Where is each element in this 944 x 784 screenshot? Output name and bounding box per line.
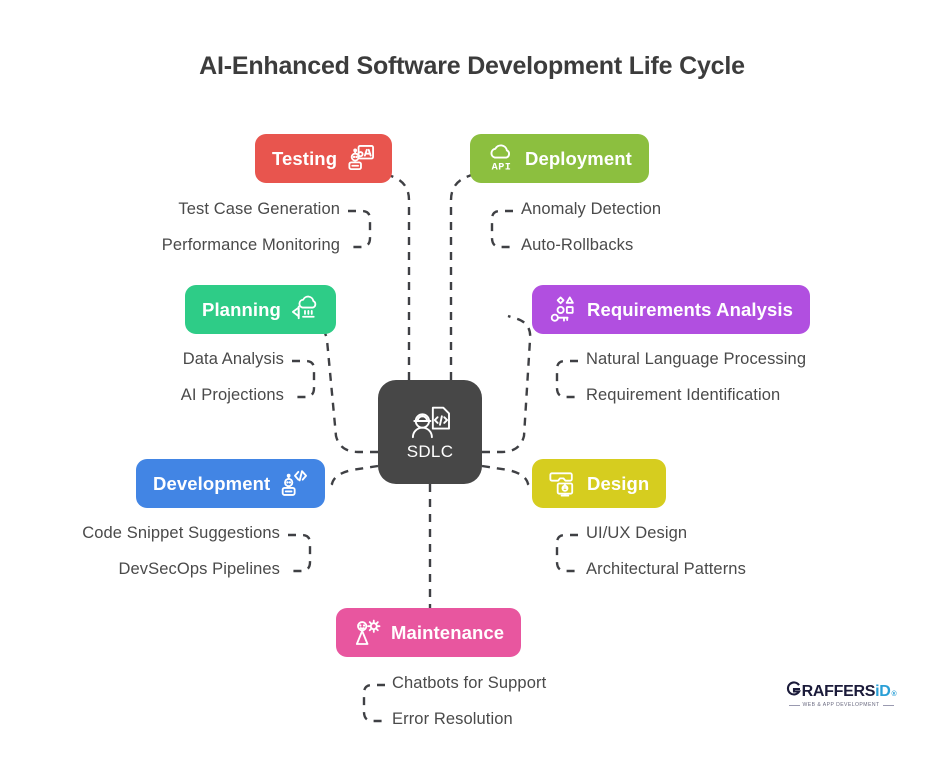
robot-code-icon	[279, 469, 308, 498]
sub-item-error-resolution: Error Resolution	[392, 710, 513, 729]
stage-node-deployment[interactable]: API Deployment	[470, 134, 649, 183]
connector-hub-requirements	[482, 316, 530, 452]
stage-label-development: Development	[153, 473, 270, 495]
connector-hub-deployment	[451, 172, 478, 380]
cloud-api-icon: API	[487, 144, 516, 173]
sub-item-test-case-generation: Test Case Generation	[88, 200, 340, 219]
svg-text:API: API	[492, 163, 512, 173]
logo-brand-main: RAFFERS	[802, 684, 875, 700]
stage-label-testing: Testing	[272, 148, 337, 170]
logo-registered-mark: ®	[892, 691, 897, 698]
stage-label-requirements: Requirements Analysis	[587, 299, 793, 321]
logo-wordmark: RAFFERS iD ®	[786, 681, 897, 700]
sub-item-natural-language-processing: Natural Language Processing	[586, 350, 806, 369]
sub-item-anomaly-detection: Anomaly Detection	[521, 200, 661, 219]
logo-brand-accent: iD	[875, 684, 890, 700]
hub-node-sdlc[interactable]: SDLC	[378, 380, 482, 484]
sub-item-requirement-identification: Requirement Identification	[586, 386, 780, 405]
connector-hub-planning	[292, 315, 378, 452]
stage-node-requirements[interactable]: Requirements Analysis	[532, 285, 810, 334]
vr-headset-monitor-icon	[549, 469, 578, 498]
graffersid-logo: RAFFERS iD ® WEB & APP DEVELOPMENT	[789, 681, 893, 708]
stage-label-design: Design	[587, 473, 649, 495]
page-title: AI-Enhanced Software Development Life Cy…	[0, 52, 944, 81]
hub-label: SDLC	[407, 442, 454, 462]
sub-item-code-snippet-suggestions: Code Snippet Suggestions	[20, 524, 280, 543]
sub-item-data-analysis: Data Analysis	[60, 350, 284, 369]
connector-hub-development	[331, 466, 378, 485]
logo-g-icon	[786, 681, 801, 696]
shapes-key-icon	[549, 295, 578, 324]
sub-item-architectural-patterns: Architectural Patterns	[586, 560, 746, 579]
connector-sub-planning	[292, 361, 314, 397]
sub-item-chatbots-for-support: Chatbots for Support	[392, 674, 546, 693]
stage-node-development[interactable]: Development	[136, 459, 325, 508]
connector-sub-design	[557, 535, 578, 571]
logo-tagline: WEB & APP DEVELOPMENT	[789, 702, 894, 708]
stage-node-maintenance[interactable]: Maintenance	[336, 608, 521, 657]
connector-hub-design	[482, 466, 529, 485]
connector-sub-testing	[348, 211, 370, 247]
connector-sub-deployment	[492, 211, 513, 247]
stage-node-planning[interactable]: Planning	[185, 285, 336, 334]
connector-hub-testing	[360, 166, 409, 380]
stage-label-maintenance: Maintenance	[391, 622, 504, 644]
sub-item-devsecops-pipelines: DevSecOps Pipelines	[20, 560, 280, 579]
robot-screen-icon	[346, 144, 375, 173]
stage-label-planning: Planning	[202, 299, 281, 321]
stage-node-testing[interactable]: Testing	[255, 134, 392, 183]
stage-node-design[interactable]: Design	[532, 459, 666, 508]
developer-code-icon	[409, 402, 451, 440]
person-gear-icon	[353, 618, 382, 647]
diagram-canvas: AI-Enhanced Software Development Life Cy…	[0, 0, 944, 784]
sub-item-auto-rollbacks: Auto-Rollbacks	[521, 236, 633, 255]
connector-sub-requirements	[557, 361, 578, 397]
sub-item-ui-ux-design: UI/UX Design	[586, 524, 687, 543]
stage-label-deployment: Deployment	[525, 148, 632, 170]
connector-sub-development	[288, 535, 310, 571]
sub-item-ai-projections: AI Projections	[60, 386, 284, 405]
connector-sub-maintenance	[364, 685, 385, 721]
brain-flag-icon	[290, 295, 319, 324]
sub-item-performance-monitoring: Performance Monitoring	[88, 236, 340, 255]
